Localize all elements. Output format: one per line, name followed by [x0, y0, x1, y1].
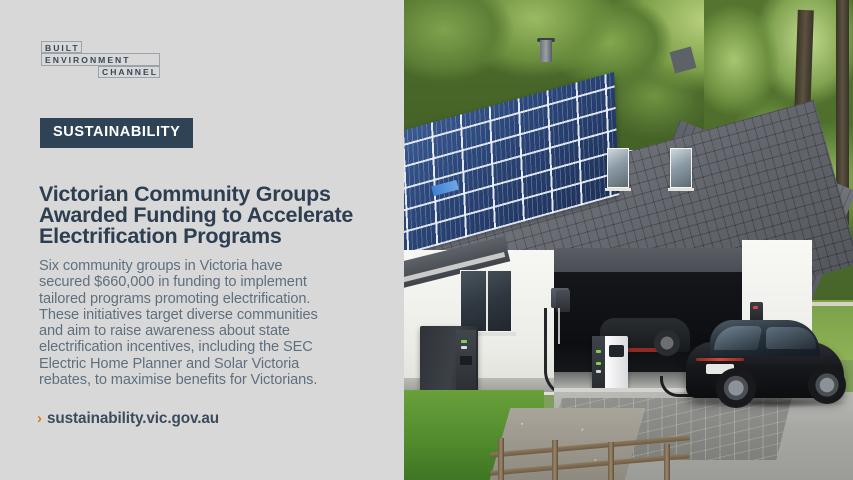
chimney [540, 40, 552, 62]
logo-row-built: BUILT [41, 41, 160, 53]
charging-status-led [596, 370, 601, 373]
fence-rail [490, 435, 690, 457]
logo-text-built: BUILT [41, 41, 82, 53]
power-cable [544, 308, 573, 397]
battery-display-screen [460, 356, 472, 365]
car-rear-wheel [716, 368, 756, 408]
battery-status-led [461, 340, 467, 343]
summary-line-3: tailored programs promoting electrificat… [39, 291, 364, 307]
logo-text-environment: ENVIRONMENT [41, 53, 160, 65]
fence-rail [490, 453, 690, 475]
headline-line-2: Awarded Funding to Accelerate [39, 205, 369, 226]
summary-line-1: Six community groups in Victoria have [39, 258, 364, 274]
charging-status-led [596, 350, 601, 353]
charging-status-led [596, 362, 601, 365]
article-summary: Six community groups in Victoria have se… [39, 258, 364, 388]
category-badge: SUSTAINABILITY [40, 118, 193, 148]
page-title: Victorian Community Groups Awarded Fundi… [39, 184, 369, 246]
summary-line-2: secured $660,000 in funding to implement [39, 274, 364, 290]
summary-line-5: and aim to raise awareness about state [39, 323, 364, 339]
headline-line-1: Victorian Community Groups [39, 184, 369, 205]
logo-row-channel: CHANNEL [41, 66, 160, 78]
article-photo [404, 0, 853, 480]
window-mullion [486, 271, 488, 331]
window-sill [668, 188, 694, 191]
car-front-wheel [808, 366, 846, 404]
wall-charger-indicator [753, 306, 758, 309]
logo-text-channel: CHANNEL [98, 66, 160, 78]
car-taillight [696, 358, 744, 361]
summary-line-8: rebates, to maximise benefits for Victor… [39, 372, 364, 388]
window-sill [605, 188, 631, 191]
car-side-window [766, 327, 816, 349]
social-media-news-card: BUILT ENVIRONMENT CHANNEL SUSTAINABILITY… [0, 0, 853, 480]
fence-post [498, 438, 504, 480]
fence-post [552, 440, 558, 480]
summary-line-6: electrification incentives, including th… [39, 339, 364, 355]
logo-row-environment: ENVIRONMENT [41, 53, 160, 65]
summary-line-4: These initiatives target diverse communi… [39, 307, 364, 323]
chevron-right-icon: › [37, 411, 42, 426]
charging-station-display [609, 345, 624, 357]
content-panel: BUILT ENVIRONMENT CHANNEL SUSTAINABILITY… [0, 0, 404, 480]
fence-post [664, 444, 670, 480]
source-url-text[interactable]: sustainability.vic.gov.au [47, 410, 219, 427]
source-link[interactable]: › sustainability.vic.gov.au [37, 410, 219, 427]
wooden-fence [490, 432, 690, 480]
gable-window-right [670, 148, 692, 188]
fence-post [608, 442, 614, 480]
brand-logo: BUILT ENVIRONMENT CHANNEL [41, 41, 160, 78]
headline-line-3: Electrification Programs [39, 226, 369, 247]
spare-wheel [654, 330, 680, 356]
summary-line-7: Electric Home Planner and Solar Victoria [39, 356, 364, 372]
battery-status-led [461, 346, 467, 349]
gable-window-left [607, 148, 629, 188]
